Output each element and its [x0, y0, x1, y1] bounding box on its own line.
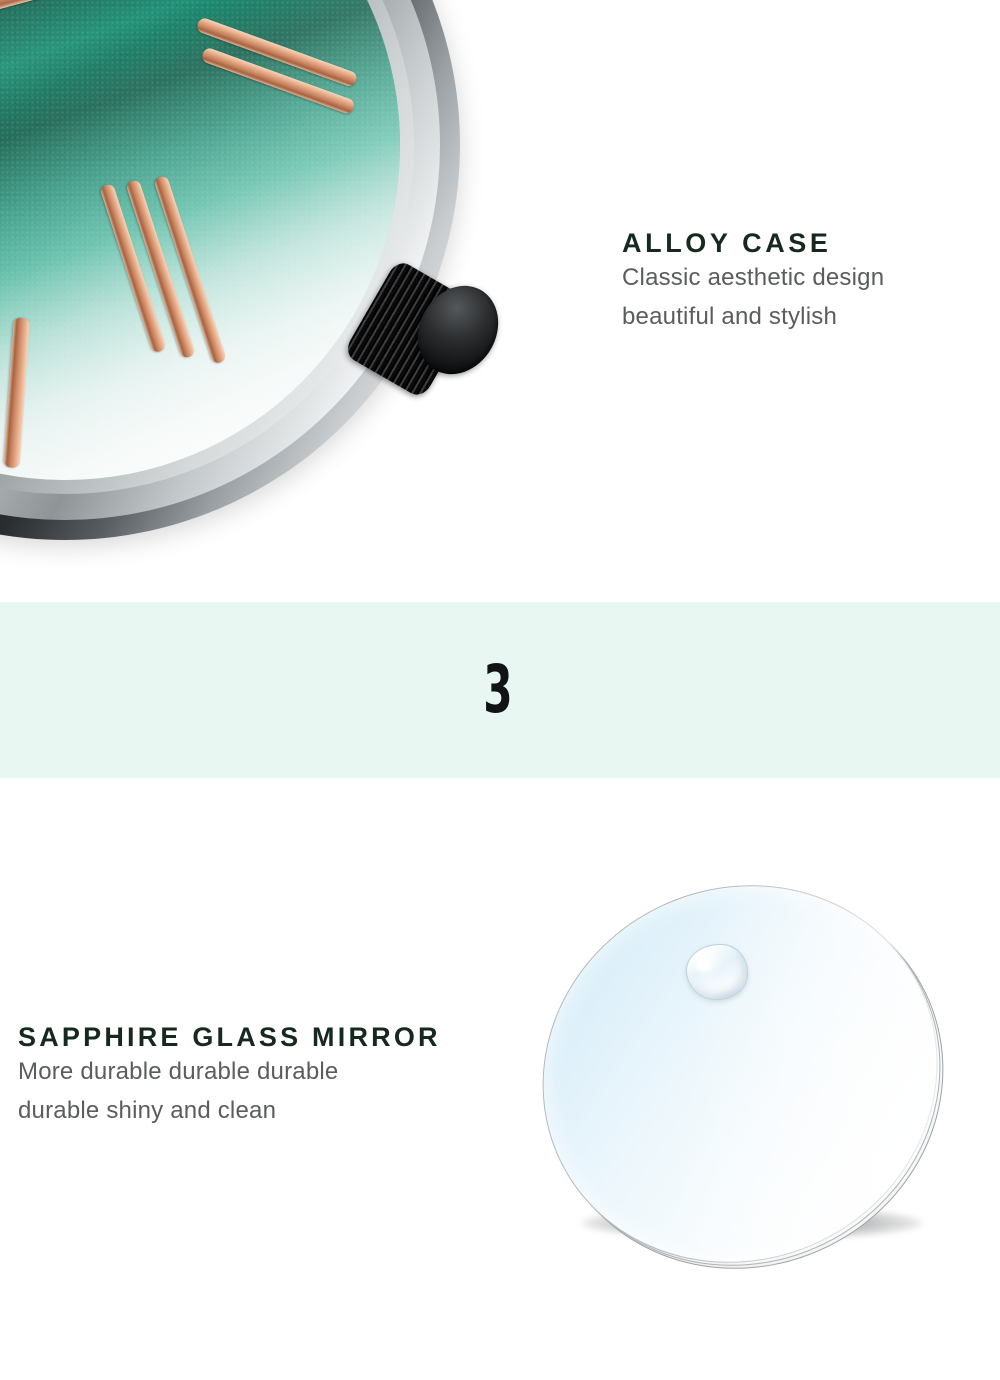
droplet-highlight [698, 960, 709, 969]
watch-crown [364, 258, 504, 398]
section-number-divider: 3 [0, 602, 1000, 778]
alloy-case-heading: ALLOY CASE [622, 228, 962, 259]
alloy-case-text-block: ALLOY CASE Classic aesthetic design beau… [622, 228, 962, 337]
section-alloy-case: EN ANCHE ALLOY CASE Classic aesthetic de… [0, 0, 1000, 602]
product-detail-page: EN ANCHE ALLOY CASE Classic aesthetic de… [0, 0, 1000, 1380]
sapphire-glass-heading: SAPPHIRE GLASS MIRROR [18, 1022, 488, 1053]
watch-case-macro-photo: EN ANCHE [0, 0, 460, 540]
section-sapphire-glass: SAPPHIRE GLASS MIRROR More durable durab… [0, 778, 1000, 1380]
alloy-case-body-line-2: beautiful and stylish [622, 298, 962, 337]
alloy-case-body-line-1: Classic aesthetic design [622, 259, 962, 298]
sapphire-glass-text-block: SAPPHIRE GLASS MIRROR More durable durab… [18, 1022, 488, 1131]
sapphire-glass-photo [540, 888, 960, 1288]
sapphire-glass-body-line-2: durable shiny and clean [18, 1092, 488, 1131]
glass-disc-face [479, 819, 1000, 1329]
water-droplet [686, 944, 748, 1000]
section-number: 3 [483, 657, 512, 723]
sapphire-glass-body-line-1: More durable durable durable [18, 1053, 488, 1092]
